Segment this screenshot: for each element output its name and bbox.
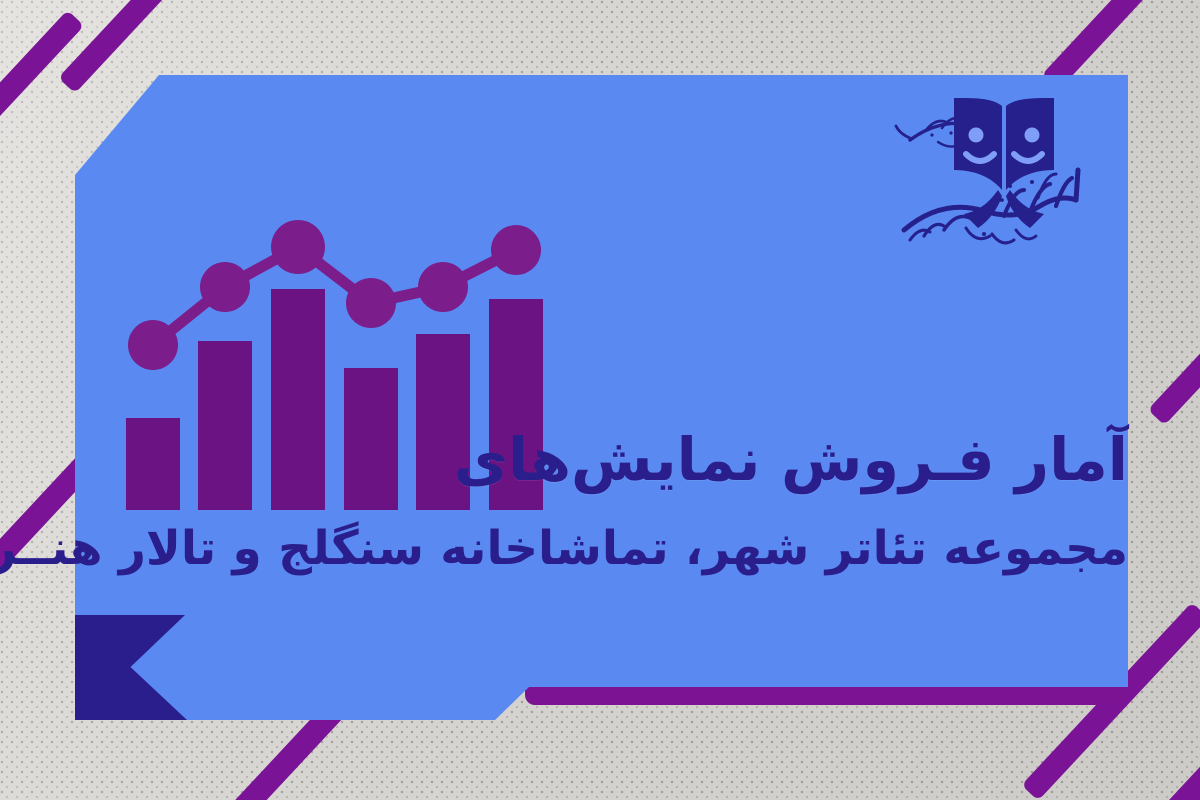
chart-marker-5 (418, 262, 468, 312)
chart-marker-1 (128, 320, 178, 370)
chart-marker-4 (346, 278, 396, 328)
logo-artwork (880, 78, 1120, 263)
chart-marker-3 (271, 220, 325, 274)
poster-canvas: آمار فـروش نمایش‌های مجموعه تئاتر شهر، ت… (0, 0, 1200, 800)
chart-marker-6 (491, 225, 541, 275)
poster-headline: آمار فـروش نمایش‌های (528, 424, 1128, 496)
logo-calligraphy-bottom (904, 170, 1078, 243)
chart-marker-2 (200, 262, 250, 312)
organization-logo (880, 78, 1120, 263)
poster-subline: مجموعه تئاتر شهر، تماشاخانه سنگلج و تالا… (118, 520, 1128, 579)
